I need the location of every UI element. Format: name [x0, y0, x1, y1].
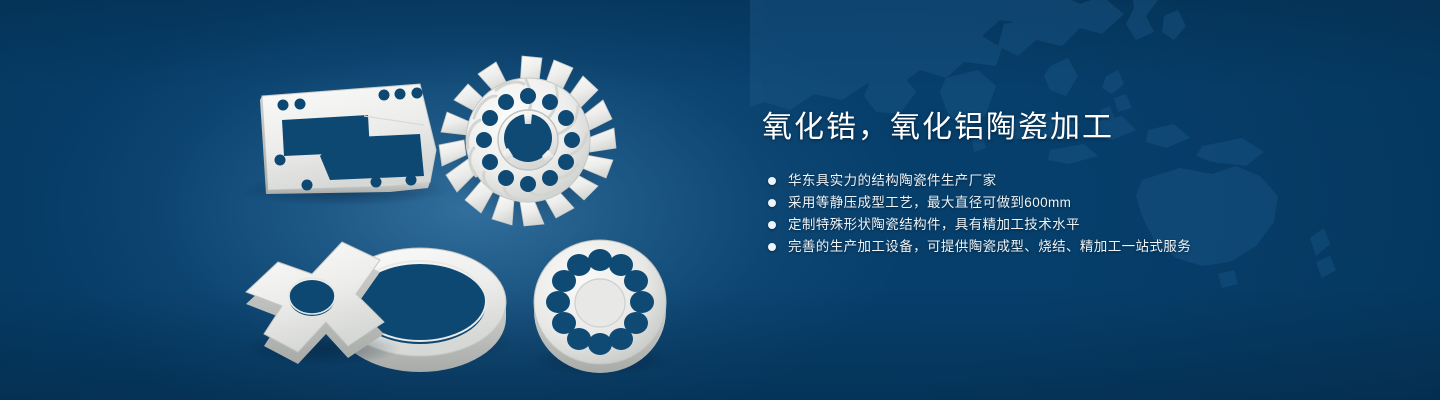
feature-bullet-item: 采用等静压成型工艺，最大直径可做到600mm	[762, 192, 1382, 214]
banner-copy: 氧化锆，氧化铝陶瓷加工 华东具实力的结构陶瓷件生产厂家 采用等静压成型工艺，最大…	[762, 108, 1382, 258]
banner-headline: 氧化锆，氧化铝陶瓷加工	[762, 108, 1382, 148]
feature-bullet-text: 采用等静压成型工艺，最大直径可做到600mm	[788, 192, 1071, 214]
ceramic-impeller-wheel	[439, 56, 616, 226]
feature-bullet-list: 华东具实力的结构陶瓷件生产厂家 采用等静压成型工艺，最大直径可做到600mm 定…	[762, 170, 1382, 258]
feature-bullet-text: 完善的生产加工设备，可提供陶瓷成型、烧结、精加工一站式服务	[788, 236, 1191, 258]
ceramic-machined-plate	[240, 84, 450, 206]
bullet-dot-icon	[768, 199, 776, 207]
feature-bullet-item: 完善的生产加工设备，可提供陶瓷成型、烧结、精加工一站式服务	[762, 236, 1382, 258]
bullet-dot-icon	[768, 243, 776, 251]
feature-bullet-item: 华东具实力的结构陶瓷件生产厂家	[762, 170, 1382, 192]
hero-banner: 氧化锆，氧化铝陶瓷加工 华东具实力的结构陶瓷件生产厂家 采用等静压成型工艺，最大…	[0, 0, 1440, 400]
feature-bullet-text: 华东具实力的结构陶瓷件生产厂家	[788, 170, 997, 192]
bullet-dot-icon	[768, 177, 776, 185]
product-photo-group	[0, 0, 740, 400]
bullet-dot-icon	[768, 221, 776, 229]
feature-bullet-item: 定制特殊形状陶瓷结构件，具有精加工技术水平	[762, 214, 1382, 236]
feature-bullet-text: 定制特殊形状陶瓷结构件，具有精加工技术水平	[788, 214, 1080, 236]
ceramic-perforated-disc	[532, 240, 672, 376]
